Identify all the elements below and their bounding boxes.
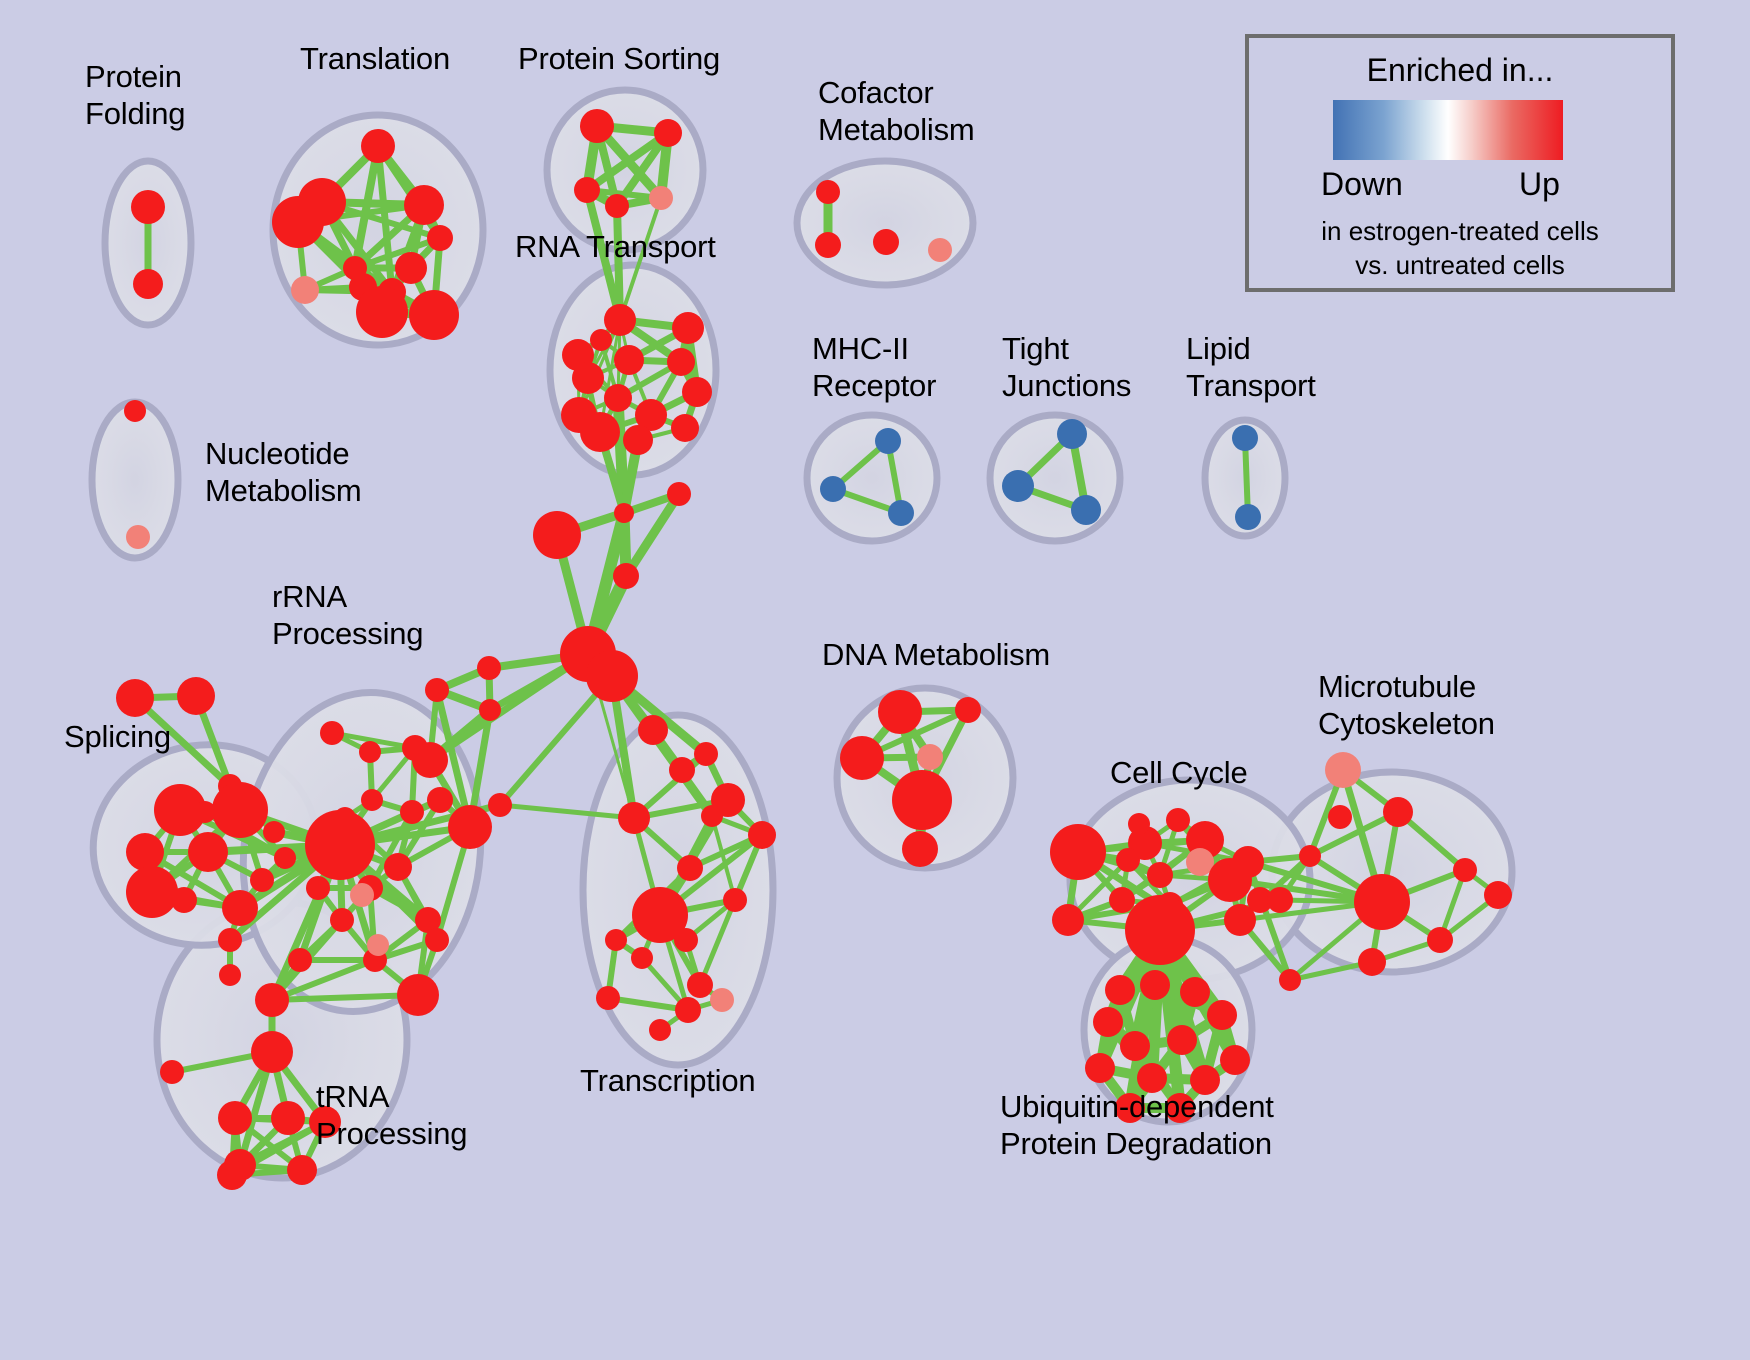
node [1383,797,1413,827]
node [402,735,428,761]
node [955,697,981,723]
node [723,888,747,912]
node [306,876,330,900]
node [263,821,285,843]
node [250,868,274,892]
node [618,802,650,834]
node [367,934,389,956]
node [614,345,644,375]
node [1484,881,1512,909]
legend-subtitle-line-1: in estrogen-treated cells [1249,216,1671,247]
node [1116,848,1140,872]
node [1232,846,1264,878]
node [271,1101,305,1135]
legend-down-label: Down [1321,166,1403,203]
node [1207,1000,1237,1030]
node [816,180,840,204]
node [320,721,344,745]
node [477,656,501,680]
node [682,377,712,407]
node [133,269,163,299]
node [479,699,501,721]
node [384,853,412,881]
node [710,988,734,1012]
node [427,225,453,251]
node [928,238,952,262]
node [1140,970,1170,1000]
legend-subtitle-line-2: vs. untreated cells [1249,250,1671,281]
node [400,800,424,824]
node [274,847,296,869]
node [580,412,620,452]
node [272,196,324,248]
node [677,855,703,881]
node [572,362,604,394]
node [888,500,914,526]
node [1057,419,1087,449]
node [330,908,354,932]
node [623,425,653,455]
node [748,821,776,849]
node [1267,887,1293,913]
node [1147,862,1173,888]
node [194,801,216,823]
node [131,190,165,224]
node [126,833,164,871]
node [1166,808,1190,832]
node [404,185,444,225]
node [1180,977,1210,1007]
node [219,964,241,986]
node [287,1155,317,1185]
node [675,997,701,1023]
node [669,757,695,783]
node [671,414,699,442]
node [687,972,713,998]
node [1220,1045,1250,1075]
node [605,929,627,951]
node [1085,1053,1115,1083]
node [425,678,449,702]
node [840,736,884,780]
node [361,789,383,811]
legend-title: Enriched in... [1249,52,1671,89]
node [631,947,653,969]
node [638,715,668,745]
legend-color-gradient-bar [1333,100,1563,160]
node [171,887,197,913]
node [359,741,381,763]
node [613,563,639,589]
node [533,511,581,559]
node [448,805,492,849]
node [902,831,938,867]
node [188,832,228,872]
node [815,232,841,258]
node [427,787,453,813]
node [395,252,427,284]
node [1325,752,1361,788]
node [255,983,289,1017]
cluster-hull-protein-sorting [547,90,703,250]
node [126,866,178,918]
node [892,770,952,830]
node [124,400,146,422]
node [1115,1093,1145,1123]
node [212,782,268,838]
node [126,525,150,549]
node [177,677,215,715]
legend-up-label: Up [1519,166,1560,203]
node [1235,504,1261,530]
node [1109,887,1135,913]
node [251,1031,293,1073]
node [305,810,375,880]
node [1052,904,1084,936]
node [1358,948,1386,976]
node [1167,1025,1197,1055]
node [1093,1007,1123,1037]
node [1279,969,1301,991]
node [1232,425,1258,451]
node [672,312,704,344]
node [1071,495,1101,525]
cluster-hull-cofactor-metabolism [797,161,973,285]
node [878,690,922,734]
node [1137,1063,1167,1093]
node [361,129,395,163]
node [397,974,439,1016]
node [586,650,638,702]
node [218,928,242,952]
node [217,1160,247,1190]
node [1354,874,1410,930]
node [1002,470,1034,502]
node [574,177,600,203]
node [160,1060,184,1084]
node [875,428,901,454]
node [1125,895,1195,965]
node [291,276,319,304]
node [649,1019,671,1041]
node [604,384,632,412]
legend-box: Enriched in... Down Up in estrogen-treat… [1245,34,1675,292]
node [605,194,629,218]
node [1299,845,1321,867]
node [649,186,673,210]
node [1120,1031,1150,1061]
node [820,476,846,502]
node [1328,805,1352,829]
node [1165,1093,1195,1123]
node [1453,858,1477,882]
enrichment-map-figure: .cl{fill:url(#cgrad);fill-opacity:.95;st… [0,0,1750,1360]
node [218,1101,252,1135]
node [590,329,612,351]
node [350,883,374,907]
node [116,679,154,717]
node [917,744,943,770]
node [1050,824,1106,880]
node [1427,927,1453,953]
node [222,890,258,926]
node [580,109,614,143]
node [425,928,449,952]
node [288,948,312,972]
node [596,986,620,1010]
node [667,482,691,506]
node [409,290,459,340]
node [309,1106,341,1138]
node [1105,975,1135,1005]
node [674,928,698,952]
node [1128,813,1150,835]
node [667,348,695,376]
node [614,503,634,523]
node [488,793,512,817]
node [694,742,718,766]
node [654,119,682,147]
node [873,229,899,255]
node [356,286,408,338]
node [1190,1065,1220,1095]
node [701,805,723,827]
node [604,304,636,336]
